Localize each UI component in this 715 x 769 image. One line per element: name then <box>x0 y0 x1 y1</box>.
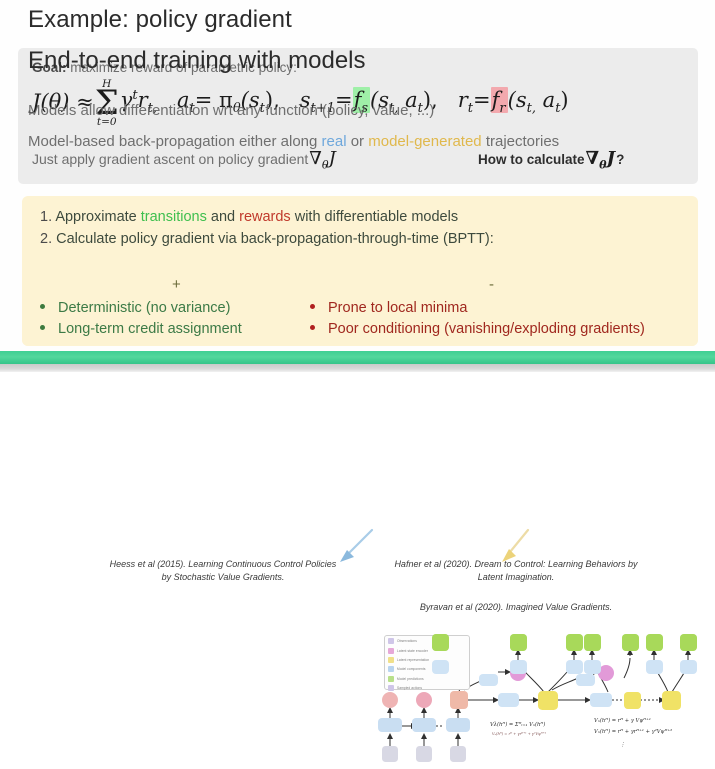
reward-term: rt=fr(st, at) <box>458 88 569 116</box>
page-title-2: End-to-end training with models <box>28 47 366 75</box>
nabla-J: J <box>329 148 336 169</box>
how-to-calculate-note: How to calculate ∇θJ ? <box>478 148 624 172</box>
pro-label: Deterministic (no variance) <box>58 298 230 319</box>
encoder-node <box>446 718 470 732</box>
nabla-theta: θ <box>322 159 329 172</box>
reward-args-a: a <box>536 88 555 112</box>
bullet-dot-icon <box>40 325 45 330</box>
legend-item: Model predictions <box>388 675 469 683</box>
legend-swatch-icon <box>388 648 394 654</box>
prediction-node <box>680 634 697 651</box>
question-mark: ? <box>616 152 624 167</box>
observation-node <box>382 746 398 762</box>
pros-plus-symbol: + <box>172 276 181 293</box>
list-item: Poor conditioning (vanishing/exploding g… <box>310 319 645 340</box>
reward-equals: = <box>473 88 491 112</box>
page-title: Example: policy gradient <box>28 6 292 34</box>
decoder-node <box>510 660 527 674</box>
latent-representation-node <box>662 691 681 710</box>
list-item: Deterministic (no variance) <box>40 298 242 319</box>
decoder-node <box>432 660 449 674</box>
slide-divider-shadow <box>0 364 715 372</box>
blue-arrow-icon <box>334 528 376 568</box>
legend-item: Observations <box>388 637 469 645</box>
cons-list: Prone to local minima Poor conditioning … <box>310 298 645 340</box>
observation-node <box>450 746 466 762</box>
legend-label: Sampled actions <box>397 686 422 690</box>
prediction-node <box>646 634 663 651</box>
nabla-glyph-2: ∇ <box>586 148 600 169</box>
model-component-node <box>590 693 612 707</box>
real-keyword: real <box>322 133 347 150</box>
value-equation-1: Vλ(hᴴ) = Σᴴₜ₌₁ Vₙ(hᴴ) <box>490 722 545 728</box>
policy-node <box>479 674 498 686</box>
step-text-pre: Calculate policy gradient via back-propa… <box>52 231 494 247</box>
legend-swatch-icon <box>388 638 394 644</box>
nabla-J-2: J <box>607 148 616 169</box>
reward-f-sub: r <box>499 102 505 117</box>
list-item: 1. Approximate transitions and rewards w… <box>40 206 494 228</box>
body-line-2-pre: Model-based back-propagation either alon… <box>28 133 322 150</box>
nabla-icon: ∇θJ <box>308 148 337 172</box>
value-equation-2: Vₙ(hᴴ) = rᴴ + γ Vψᴴ⁺¹ <box>594 718 651 724</box>
equation-ellipsis: ⋮ <box>620 742 625 748</box>
step-number: 1. <box>40 209 52 225</box>
legend-label: Model predictions <box>397 677 424 681</box>
con-label: Poor conditioning (vanishing/exploding g… <box>328 319 645 340</box>
prediction-node <box>566 634 583 651</box>
list-item: Long-term credit assignment <box>40 319 242 340</box>
prediction-node <box>622 634 639 651</box>
list-item: Prone to local minima <box>310 298 645 319</box>
cons-minus-symbol: - <box>489 276 494 293</box>
legend-item: Latent representation <box>388 656 469 664</box>
con-label: Prone to local minima <box>328 298 467 319</box>
decoder-node <box>646 660 663 674</box>
value-gradient-diagram: Observations Latent state encoder Latent… <box>372 630 714 769</box>
steps-list: 1. Approximate transitions and rewards w… <box>40 206 494 250</box>
legend-swatch-icon <box>388 676 394 682</box>
latent-state-node <box>382 692 398 708</box>
decoder-node <box>566 660 583 674</box>
body-line-1: Models allow differentiation wrt any fun… <box>28 102 434 119</box>
bullet-dot-icon <box>310 304 315 309</box>
rewards-keyword: rewards <box>239 209 291 225</box>
body-line-2-mid: or <box>347 133 369 150</box>
latent-representation-node <box>538 691 558 710</box>
citation-hafner: Hafner et al (2020). Dream to Control: L… <box>382 558 650 584</box>
legend-item: Model components <box>388 665 469 673</box>
reward-lhs: r <box>458 88 468 112</box>
reward-close: ) <box>560 88 568 112</box>
prediction-node <box>432 634 449 651</box>
encoder-node <box>378 718 402 732</box>
body-line-2-post: trajectories <box>482 133 560 150</box>
pro-label: Long-term credit assignment <box>58 319 242 340</box>
step-text-mid: and <box>207 209 239 225</box>
gradient-ascent-text: Just apply gradient ascent on policy gra… <box>32 151 308 167</box>
legend-swatch-icon <box>388 685 394 691</box>
policy-node <box>576 674 595 686</box>
pros-list: Deterministic (no variance) Long-term cr… <box>40 298 242 340</box>
reward-args-sub1: t, <box>527 102 536 117</box>
how-to-calculate-text: How to calculate <box>478 152 585 167</box>
latent-state-node <box>450 691 468 709</box>
step-number: 2. <box>40 231 52 247</box>
latent-state-node <box>416 692 432 708</box>
legend-item: Latent state encoder <box>388 647 469 655</box>
decoder-node <box>584 660 601 674</box>
transitions-keyword: transitions <box>141 209 207 225</box>
reward-args: (s <box>508 88 527 112</box>
encoder-node <box>412 718 436 732</box>
nabla-theta-2: θ <box>599 159 606 172</box>
step-text-post: with differentiable models <box>291 209 458 225</box>
prediction-node <box>510 634 527 651</box>
prediction-node <box>584 634 601 651</box>
legend-label: Observations <box>397 639 417 643</box>
value-equation-note: Vₙ(hᴴ) = rᴴ + γrᴴ⁺¹ + γ²Vψᴴ⁺² <box>492 732 546 736</box>
latent-representation-node <box>624 692 641 709</box>
gradient-ascent-note: Just apply gradient ascent on policy gra… <box>32 148 337 172</box>
slide-deck-screenshot: Example: policy gradient Goal: maximize … <box>0 0 715 769</box>
value-equation-3: Vₙ(hᴴ) = rᴴ + γrᴴ⁺¹ + γ²Vψᴴ⁺² <box>594 729 672 735</box>
model-component-node <box>498 693 519 707</box>
citation-heess: Heess et al (2015). Learning Continuous … <box>108 558 338 584</box>
legend-swatch-icon <box>388 666 394 672</box>
reward-model-highlight: fr <box>491 87 508 113</box>
legend-label: Latent representation <box>397 658 429 662</box>
bullet-dot-icon <box>40 304 45 309</box>
slide-divider <box>0 351 715 364</box>
model-generated-keyword: model-generated <box>368 133 481 150</box>
body-line-2: Model-based back-propagation either alon… <box>28 133 559 150</box>
legend-label: Model components <box>397 667 426 671</box>
step-text-pre: Approximate <box>52 209 141 225</box>
observation-node <box>416 746 432 762</box>
nabla-glyph: ∇ <box>309 148 322 169</box>
bullet-dot-icon <box>310 325 315 330</box>
legend-label: Latent state encoder <box>397 649 428 653</box>
diagram-legend: Observations Latent state encoder Latent… <box>384 635 470 690</box>
legend-swatch-icon <box>388 657 394 663</box>
decoder-node <box>680 660 697 674</box>
nabla-icon-2: ∇θJ <box>585 148 617 172</box>
list-item: 2. Calculate policy gradient via back-pr… <box>40 228 494 250</box>
citation-byravan: Byravan et al (2020). Imagined Value Gra… <box>382 601 650 614</box>
